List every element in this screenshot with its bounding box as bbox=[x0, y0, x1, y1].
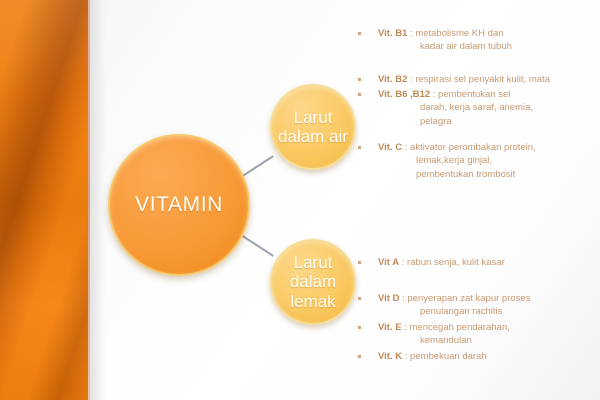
entry-vit-b6-b12-name: Vit. B6 ,B12 bbox=[378, 89, 430, 100]
entry-vit-c-desc: aktivator perombakan protein, bbox=[410, 142, 536, 153]
list-item: Vit A : rabun senja, kulit kasar bbox=[352, 256, 600, 269]
entry-vit-e-name: Vit. E bbox=[378, 322, 402, 333]
list-item: Vit. B6 ,B12 : pembentukan sel darah, ke… bbox=[352, 88, 600, 128]
entry-vit-c-desc3: pembentukan trombosit bbox=[378, 168, 600, 181]
entry-vit-d: Vit D : penyerapan zat kapur proses penu… bbox=[352, 292, 600, 319]
entry-vit-b6-b12-sep: : bbox=[430, 89, 438, 100]
entry-vit-e-desc: mencegah pendarahan, bbox=[410, 322, 510, 333]
bullet-icon bbox=[358, 93, 361, 96]
bullet-icon bbox=[358, 297, 361, 300]
entry-vit-e-sep: : bbox=[402, 322, 410, 333]
entry-vit-d-desc2: penulangan rachitis bbox=[378, 305, 600, 318]
list-item: Vit. C : aktivator perombakan protein, l… bbox=[352, 141, 600, 181]
slide-canvas: VITAMIN Larut dalam air Larut dalam lema… bbox=[0, 0, 600, 400]
entry-vit-k-sep: : bbox=[402, 351, 410, 362]
entry-vit-a-desc: rabun senja, kulit kasar bbox=[407, 257, 505, 268]
list-item: Vit. K : pembekuan darah bbox=[352, 350, 600, 363]
entry-vit-k-desc: pembekuan darah bbox=[410, 351, 487, 362]
entry-vit-b2-desc: respirasi sel penyakit kulit, mata bbox=[415, 74, 550, 85]
node-vitamin-root-label: VITAMIN bbox=[131, 193, 227, 217]
bullet-icon bbox=[358, 78, 361, 81]
left-band-glow bbox=[90, 0, 106, 400]
entry-vit-d-name: Vit D bbox=[378, 293, 399, 304]
descriptions-column: Vit. B1 : metabolisme KH dan kadar air d… bbox=[352, 0, 600, 400]
entry-vit-b2-name: Vit. B2 bbox=[378, 74, 407, 85]
entry-vit-b2: Vit. B2 : respirasi sel penyakit kulit, … bbox=[352, 73, 600, 86]
entry-vit-e: Vit. E : mencegah pendarahan, kemandulan bbox=[352, 321, 600, 348]
entry-vit-b6-b12-desc3: pelagra bbox=[378, 115, 600, 128]
entry-vit-c-desc2: lemak,kerja ginjal, bbox=[378, 154, 600, 167]
entry-vit-b1-desc2: kadar air dalam tubuh bbox=[378, 40, 600, 53]
entry-vit-a-sep: : bbox=[399, 257, 407, 268]
bullet-icon bbox=[358, 326, 361, 329]
entry-vit-c-sep: : bbox=[402, 142, 410, 153]
entry-vit-b1-desc: metabolisme KH dan bbox=[415, 28, 503, 39]
entry-vit-k-name: Vit. K bbox=[378, 351, 402, 362]
entry-vit-k: Vit. K : pembekuan darah bbox=[352, 350, 600, 363]
entry-vit-a-name: Vit A bbox=[378, 257, 399, 268]
list-item: Vit. E : mencegah pendarahan, kemandulan bbox=[352, 321, 600, 348]
entry-vit-a: Vit A : rabun senja, kulit kasar bbox=[352, 256, 600, 269]
bullet-icon bbox=[358, 146, 361, 149]
node-larut-dalam-air[interactable]: Larut dalam air bbox=[270, 84, 356, 170]
entry-vit-b6-b12-desc: pembentukan sel bbox=[438, 89, 510, 100]
entry-vit-b6-b12: Vit. B6 ,B12 : pembentukan sel darah, ke… bbox=[352, 88, 600, 128]
entry-vit-c: Vit. C : aktivator perombakan protein, l… bbox=[352, 141, 600, 181]
entry-vit-c-name: Vit. C bbox=[378, 142, 402, 153]
list-item: Vit D : penyerapan zat kapur proses penu… bbox=[352, 292, 600, 319]
list-item: Vit. B1 : metabolisme KH dan kadar air d… bbox=[352, 27, 600, 54]
bullet-icon bbox=[358, 355, 361, 358]
entry-vit-b1: Vit. B1 : metabolisme KH dan kadar air d… bbox=[352, 27, 600, 54]
entry-vit-b1-name: Vit. B1 bbox=[378, 28, 407, 39]
node-larut-dalam-lemak[interactable]: Larut dalam lemak bbox=[270, 239, 356, 325]
entry-vit-d-desc: penyerapan zat kapur proses bbox=[407, 293, 530, 304]
list-item: Vit. B2 : respirasi sel penyakit kulit, … bbox=[352, 73, 600, 86]
entry-vit-e-desc2: kemandulan bbox=[378, 334, 600, 347]
bullet-icon bbox=[358, 261, 361, 264]
node-larut-dalam-air-label: Larut dalam air bbox=[272, 108, 354, 146]
entry-vit-b6-b12-desc2: darah, kerja saraf, anemia, bbox=[378, 101, 600, 114]
bullet-icon bbox=[358, 32, 361, 35]
node-larut-dalam-lemak-label: Larut dalam lemak bbox=[272, 253, 354, 310]
left-band-sheen bbox=[0, 0, 88, 400]
node-vitamin-root[interactable]: VITAMIN bbox=[108, 134, 250, 276]
